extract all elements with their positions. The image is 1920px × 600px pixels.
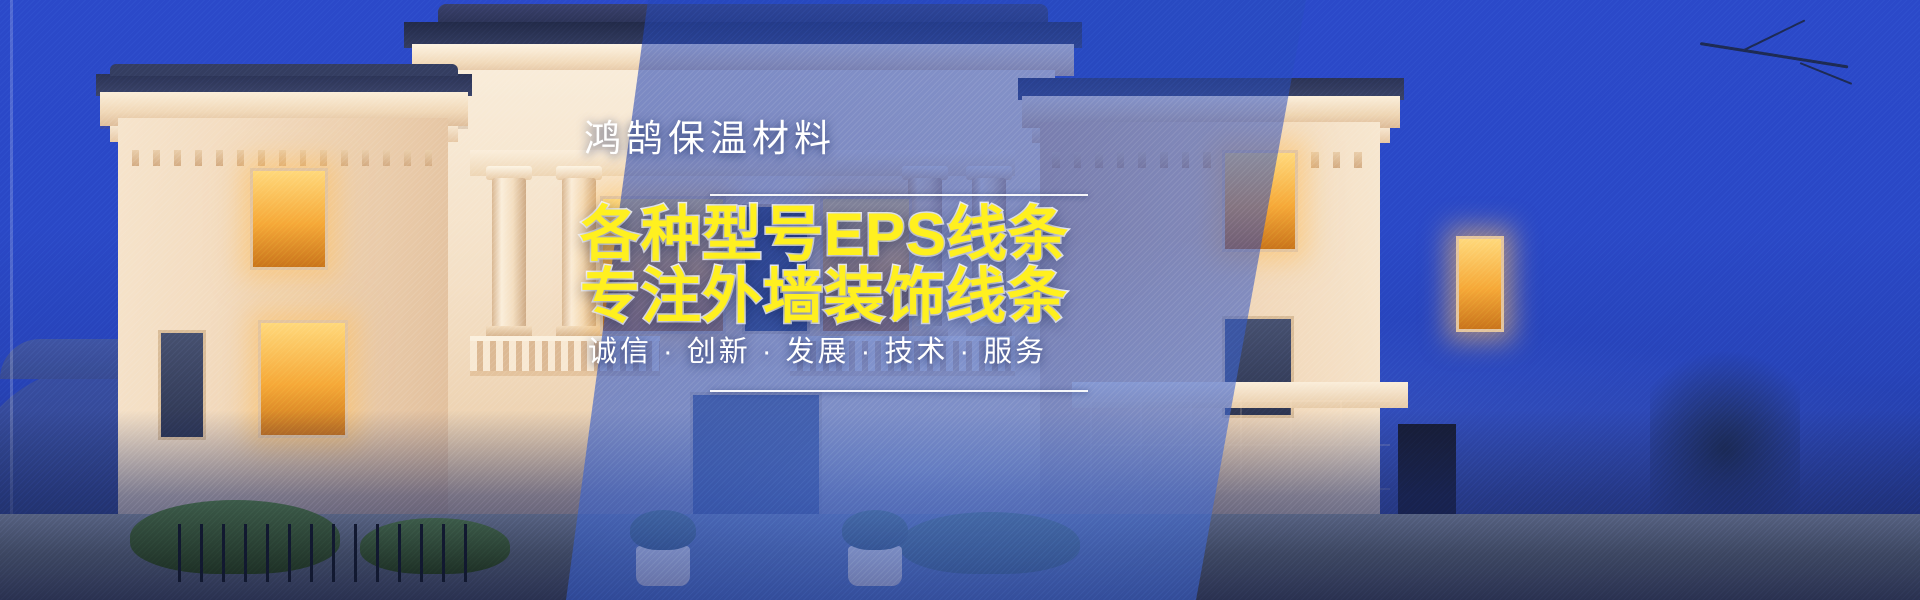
window-lit (250, 168, 328, 270)
left-wing-dentils (132, 150, 432, 166)
headline-line-2: 专注外墙装饰线条 (580, 248, 1068, 335)
company-tagline: 诚信 · 创新 · 发展 · 技术 · 服务 (588, 328, 1047, 370)
banner-text-block: 鸿鹄保温材料 各种型号EPS线条 专注外墙装饰线条 诚信 · 创新 · 发展 ·… (560, 0, 1260, 600)
company-name: 鸿鹄保温材料 (584, 108, 836, 162)
portico-column (492, 178, 526, 328)
window-lit (1456, 236, 1504, 332)
iron-fence (178, 524, 478, 582)
hero-banner: 鸿鹄保温材料 各种型号EPS线条 专注外墙装饰线条 诚信 · 创新 · 发展 ·… (0, 0, 1920, 600)
divider-bottom (710, 390, 1088, 392)
